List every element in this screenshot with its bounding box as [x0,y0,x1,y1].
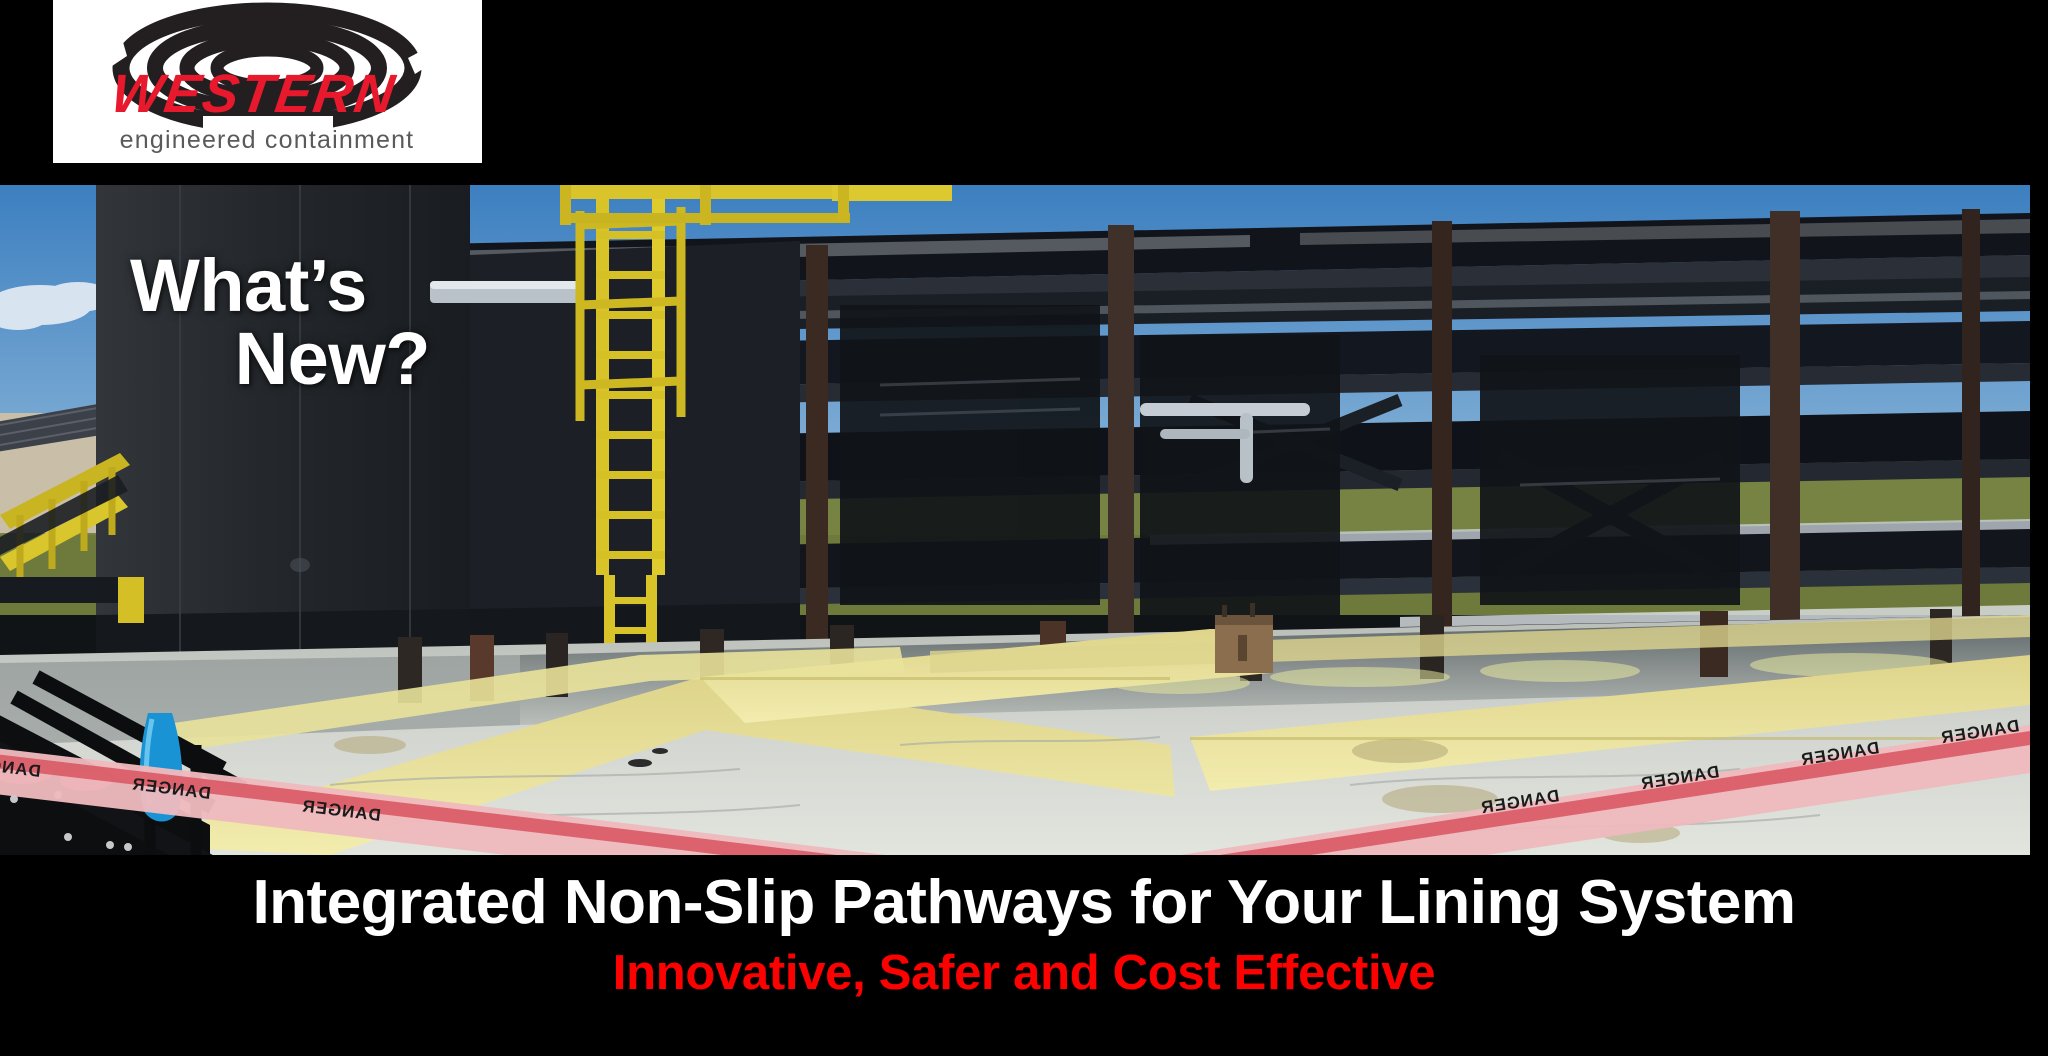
company-logo: WESTERN engineered containment WESTERN e… [53,0,482,163]
svg-text:engineered containment: engineered containment [120,126,415,154]
logo-wordmark: WESTERN [108,64,400,124]
logo-tagline: engineered containment [120,126,415,154]
caption-bar: Integrated Non-Slip Pathways for Your Li… [0,855,2048,1056]
hero-photo: DANGER DANGER DANGER DANGER DANGER DANGE… [0,185,2030,855]
caption-headline: Integrated Non-Slip Pathways for Your Li… [0,872,2048,934]
logo-artwork: WESTERN engineered containment WESTERN e… [53,0,482,163]
top-bar: WESTERN engineered containment WESTERN e… [0,0,2048,185]
caption-subhead: Innovative, Safer and Cost Effective [0,949,2048,998]
svg-text:WESTERN: WESTERN [108,64,400,124]
slide-root: WESTERN engineered containment WESTERN e… [0,0,2048,1056]
right-black-rail [2030,185,2048,855]
